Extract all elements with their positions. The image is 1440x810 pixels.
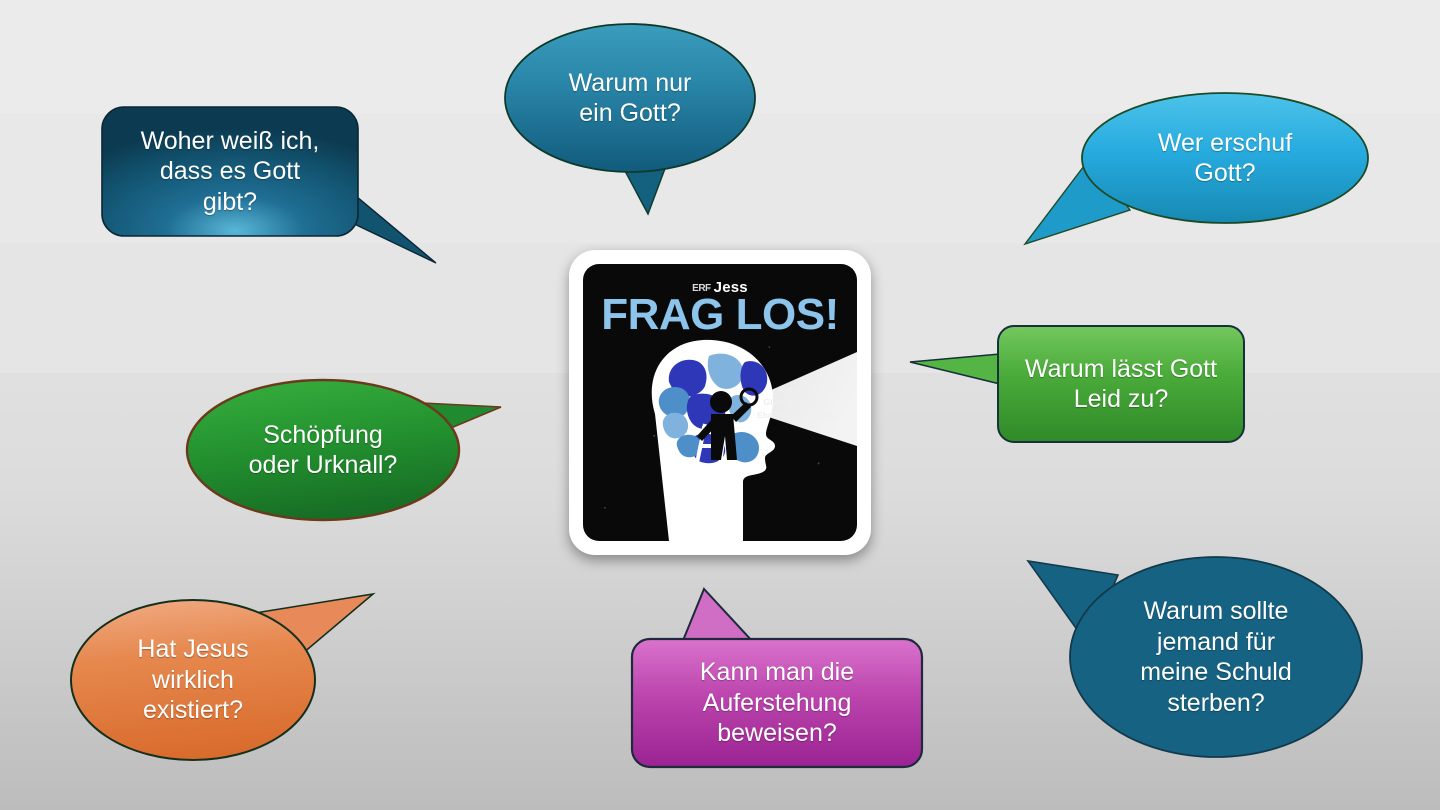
bubble-kann-man-die-auferstehung-beweisen[interactable]: Kann man die Auferstehung beweisen?	[628, 583, 928, 773]
podcast-cover-art: ERFJess FRAG LOS! Kritische Glaubensfrag…	[583, 264, 857, 541]
bubble-warum-sollte-jemand-sterben[interactable]: Warum sollte jemand für meine Schuld ste…	[1018, 545, 1378, 775]
bubble-warum-nur-ein-gott-shape	[500, 18, 780, 238]
bubble-schoepfung-oder-urknall[interactable]: Schöpfung oder Urknall?	[185, 375, 505, 525]
bubble-wer-erschuf-gott[interactable]: Wer erschuf Gott?	[1020, 88, 1380, 258]
bubble-woher-weiss-ich[interactable]: Woher weiß ich, dass es Gott gibt?	[96, 100, 446, 270]
bubble-schoepfung-oder-urknall-shape	[185, 375, 505, 525]
bubble-warum-nur-ein-gott[interactable]: Warum nur ein Gott?	[500, 18, 780, 238]
slide-canvas: Woher weiß ich, dass es Gott gibt? Warum…	[0, 0, 1440, 810]
cover-subtitle: Kritische Glaubensfragen. Ehrliche Antwo…	[745, 384, 849, 421]
podcast-cover-frame[interactable]: ERFJess FRAG LOS! Kritische Glaubensfrag…	[569, 250, 871, 555]
bubble-kann-man-die-auferstehung-beweisen-shape	[628, 583, 928, 773]
bubble-hat-jesus-wirklich-existiert-shape	[65, 585, 385, 770]
cover-title: FRAG LOS!	[583, 290, 857, 340]
bubble-hat-jesus-wirklich-existiert[interactable]: Hat Jesus wirklich existiert?	[65, 585, 385, 770]
bubble-warum-laesst-gott-leid-zu-shape	[900, 322, 1252, 452]
bubble-warum-laesst-gott-leid-zu[interactable]: Warum lässt Gott Leid zu?	[900, 322, 1252, 452]
bubble-woher-weiss-ich-shape	[96, 100, 446, 270]
bubble-wer-erschuf-gott-shape	[1020, 88, 1380, 258]
bubble-warum-sollte-jemand-sterben-shape	[1018, 545, 1378, 775]
